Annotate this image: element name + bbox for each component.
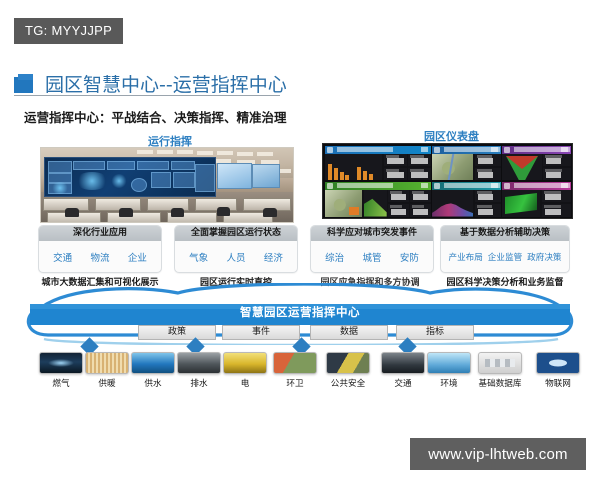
bottom-item-label: 环境 xyxy=(426,377,472,389)
control-room-photo xyxy=(40,147,294,223)
bottom-item-label: 供水 xyxy=(130,377,176,389)
bottom-icon-row: 燃气 供暖 供水 排水 电 环卫 公共安全 交通 xyxy=(38,352,578,394)
bottom-item-sanitation[interactable]: 环卫 xyxy=(272,352,318,389)
feature-item[interactable]: 物流 xyxy=(90,250,109,264)
bottom-item-electricity[interactable]: 电 xyxy=(222,352,268,389)
bottom-item-iot[interactable]: 物联网 xyxy=(532,352,584,389)
feature-box-header: 深化行业应用 xyxy=(39,226,161,241)
panel-caption-dashboard: 园区仪表盘 xyxy=(424,128,479,144)
mid-box-data[interactable]: 数据 xyxy=(310,325,388,340)
feature-box-emergency: 科学应对城市突发事件 综治 城管 安防 xyxy=(310,225,434,273)
feature-box-items: 气象 人员 经济 xyxy=(175,241,297,273)
feature-box-items: 交通 物流 企业 xyxy=(39,241,161,273)
feature-item[interactable]: 综治 xyxy=(325,250,344,264)
dashboard-card xyxy=(432,182,500,217)
feature-item[interactable]: 安防 xyxy=(400,250,419,264)
drainage-icon xyxy=(177,352,221,374)
heating-icon xyxy=(85,352,129,374)
bottom-item-label: 燃气 xyxy=(38,377,84,389)
feature-box-header: 科学应对城市突发事件 xyxy=(311,226,433,241)
page-title: 园区智慧中心--运营指挥中心 xyxy=(14,70,287,97)
bottom-item-label: 公共安全 xyxy=(320,377,376,389)
feature-item[interactable]: 政府决策 xyxy=(527,251,561,263)
bottom-item-label: 交通 xyxy=(380,377,426,389)
bottom-item-public-security[interactable]: 公共安全 xyxy=(320,352,376,389)
feature-box-status: 全面掌握园区运行状态 气象 人员 经济 xyxy=(174,225,298,273)
bottom-item-traffic[interactable]: 交通 xyxy=(380,352,426,389)
gas-icon xyxy=(39,352,83,374)
feature-item[interactable]: 交通 xyxy=(53,250,72,264)
feature-box-industry: 深化行业应用 交通 物流 企业 xyxy=(38,225,162,273)
database-icon xyxy=(478,352,522,374)
page-title-label: 园区智慧中心--运营指挥中心 xyxy=(45,70,287,97)
sanitation-icon xyxy=(273,352,317,374)
dashboard-grid-photo xyxy=(322,143,573,219)
mid-box-policy[interactable]: 政策 xyxy=(138,325,216,340)
feature-item[interactable]: 城管 xyxy=(362,250,381,264)
site-watermark: www.vip-lhtweb.com xyxy=(410,438,586,470)
feature-item[interactable]: 企业 xyxy=(128,250,147,264)
feature-box-decision: 基于数据分析辅助决策 产业布局 企业监管 政府决策 xyxy=(440,225,570,273)
dashboard-card xyxy=(325,182,431,217)
side-screen-1 xyxy=(217,163,252,189)
folder-square-icon xyxy=(14,74,36,93)
public-security-icon xyxy=(326,352,370,374)
electricity-icon xyxy=(223,352,267,374)
bottom-item-gas[interactable]: 燃气 xyxy=(38,352,84,389)
iot-icon xyxy=(536,352,580,374)
dashboard-card xyxy=(432,146,500,181)
dashboard-card xyxy=(502,182,570,217)
feature-box-items: 产业布局 企业监管 政府决策 xyxy=(441,241,569,273)
bottom-item-water-supply[interactable]: 供水 xyxy=(130,352,176,389)
bottom-item-label: 基础数据库 xyxy=(470,377,530,389)
feature-box-items: 综治 城管 安防 xyxy=(311,241,433,273)
tg-watermark-tag: TG: MYYJJPP xyxy=(14,18,123,44)
bottom-item-environment[interactable]: 环境 xyxy=(426,352,472,389)
video-wall xyxy=(44,157,216,197)
title-divider xyxy=(14,95,280,96)
dashboard-card xyxy=(325,146,431,181)
traffic-icon xyxy=(381,352,425,374)
feature-item[interactable]: 产业布局 xyxy=(448,251,482,263)
bottom-item-label: 电 xyxy=(222,377,268,389)
feature-item[interactable]: 企业监管 xyxy=(488,251,522,263)
bottom-item-label: 物联网 xyxy=(532,377,584,389)
bottom-item-database[interactable]: 基础数据库 xyxy=(470,352,530,389)
bottom-item-label: 排水 xyxy=(176,377,222,389)
feature-item[interactable]: 气象 xyxy=(189,250,208,264)
bottom-item-label: 供暖 xyxy=(84,377,130,389)
water-supply-icon xyxy=(131,352,175,374)
bottom-item-label: 环卫 xyxy=(272,377,318,389)
bottom-item-heating[interactable]: 供暖 xyxy=(84,352,130,389)
feature-box-header: 全面掌握园区运行状态 xyxy=(175,226,297,241)
feature-item[interactable]: 人员 xyxy=(226,250,245,264)
feature-box-header: 基于数据分析辅助决策 xyxy=(441,226,569,241)
environment-icon xyxy=(427,352,471,374)
side-screen-2 xyxy=(252,164,280,188)
page-subtitle: 运营指挥中心：平战结合、决策指挥、精准治理 xyxy=(24,107,287,126)
slide-canvas: TG: MYYJJPP 园区智慧中心--运营指挥中心 运营指挥中心：平战结合、决… xyxy=(0,0,600,480)
dashboard-card xyxy=(502,146,570,181)
feature-item[interactable]: 经济 xyxy=(264,250,283,264)
bottom-item-drainage[interactable]: 排水 xyxy=(176,352,222,389)
ribbon-label: 智慧园区运营指挥中心 xyxy=(150,304,450,320)
mid-box-event[interactable]: 事件 xyxy=(222,325,300,340)
